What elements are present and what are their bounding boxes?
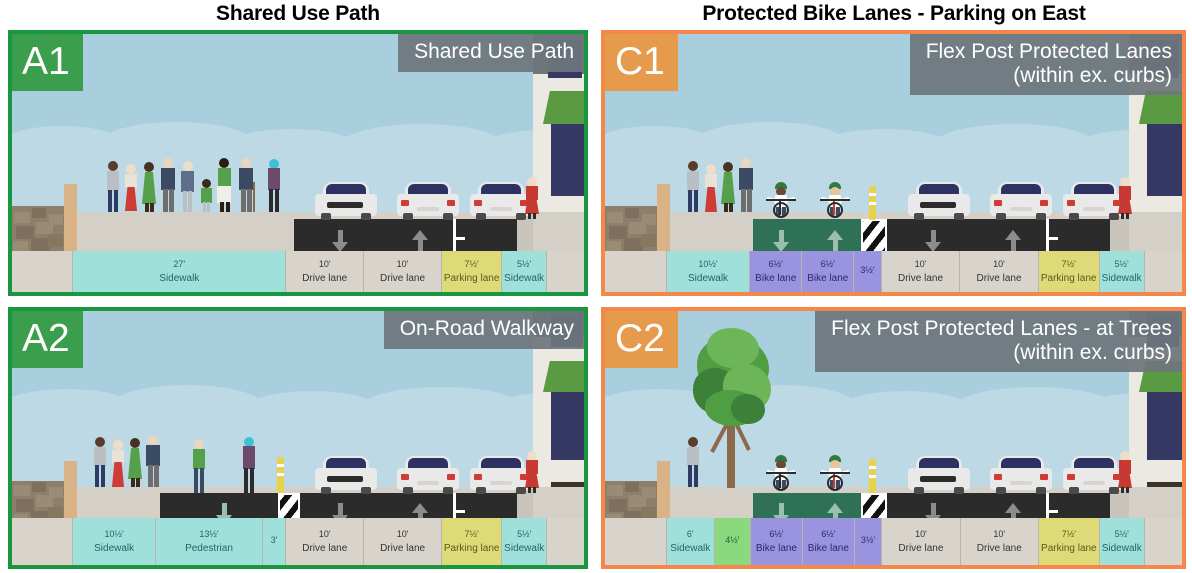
dim-seg — [12, 518, 73, 565]
cross-section-comparison-page: Shared Use Path — [0, 0, 1192, 573]
panel-code-a1: A1 — [12, 34, 83, 91]
up-arrow-icon — [1005, 230, 1021, 252]
dim-seg — [1145, 251, 1182, 292]
dim-seg: 7½'Parking lane — [442, 251, 502, 292]
dim-seg: 10'Drive lane — [286, 518, 364, 565]
dim-seg: 10'Drive lane — [286, 251, 364, 292]
panel-caption-c1: Flex Post Protected Lanes (within ex. cu… — [910, 34, 1182, 95]
pedestrian-icon — [217, 158, 232, 212]
pedestrian-icon — [201, 179, 212, 212]
dim-seg: 27'Sidewalk — [73, 251, 286, 292]
pedestrian-icon — [525, 177, 539, 219]
dimension-bar-c1: 10½'Sidewalk 6½'Bike lane 6½'Bike lane 3… — [605, 251, 1182, 292]
pedestrian-icon — [180, 161, 195, 212]
parking-stall-marking — [453, 510, 465, 513]
down-arrow-icon — [773, 230, 789, 252]
panel-a2[interactable]: A2 On-Road Walkway 10½'Sidewalk 13½'Pede… — [8, 307, 588, 569]
dim-seg: 6½'Bike lane — [802, 251, 854, 292]
dimension-bar-a2: 10½'Sidewalk 13½'Pedestrian 3' 10'Drive … — [12, 518, 584, 565]
bicyclist-icon — [817, 455, 851, 493]
car-front-icon — [1063, 182, 1125, 220]
column-title-left: Shared Use Path — [0, 0, 596, 28]
dim-seg: 10'Drive lane — [882, 251, 961, 292]
car-front-icon — [908, 456, 970, 494]
dim-seg — [547, 251, 584, 292]
pedestrian-icon — [267, 159, 281, 212]
dim-seg: 10'Drive lane — [364, 518, 442, 565]
dimension-bar-a1: 27'Sidewalk 10'Drive lane 10'Drive lane … — [12, 251, 584, 292]
dimension-bar-c2: 6'Sidewalk 4½' 6½'Bike lane 6½'Bike lane… — [605, 518, 1182, 565]
car-front-icon — [908, 182, 970, 220]
dim-seg: 5½'Sidewalk — [502, 518, 547, 565]
dim-seg: 10'Drive lane — [961, 518, 1039, 565]
pedestrian-icon — [105, 161, 121, 212]
column-title-right: Protected Bike Lanes - Parking on East — [596, 0, 1192, 28]
pedestrian-icon — [721, 162, 735, 212]
dim-seg: 5½'Sidewalk — [1100, 518, 1145, 565]
panel-code-c2: C2 — [605, 311, 678, 368]
bicyclist-icon — [763, 455, 797, 493]
dim-seg: 3½' — [855, 518, 882, 565]
parking-stall-marking — [1046, 510, 1058, 513]
bicyclist-icon — [817, 182, 851, 220]
dim-seg: 7½'Parking lane — [442, 518, 502, 565]
pedestrian-icon — [192, 439, 206, 493]
pedestrian-icon — [92, 437, 108, 487]
car-front-icon — [315, 456, 377, 494]
dim-seg: 10'Drive lane — [882, 518, 960, 565]
dim-seg: 10½'Sidewalk — [73, 518, 156, 565]
dim-seg: 10'Drive lane — [960, 251, 1039, 292]
dim-seg: 7½'Parking lane — [1039, 251, 1100, 292]
pedestrian-icon — [145, 435, 161, 487]
pedestrian-icon — [685, 437, 701, 487]
dim-seg — [605, 518, 667, 565]
dim-seg: 5½'Sidewalk — [502, 251, 547, 292]
pedestrian-icon — [704, 164, 718, 212]
pedestrian-icon — [1118, 451, 1132, 493]
pedestrian-icon — [238, 158, 254, 212]
panel-c1[interactable]: C1 Flex Post Protected Lanes (within ex.… — [601, 30, 1186, 296]
panel-caption-a1: Shared Use Path — [398, 34, 584, 72]
pedestrian-icon — [738, 158, 754, 212]
pedestrian-icon — [160, 158, 176, 212]
dim-seg: 5½'Sidewalk — [1100, 251, 1145, 292]
pedestrian-icon — [1118, 177, 1132, 219]
down-arrow-icon — [925, 230, 941, 252]
down-arrow-icon — [332, 230, 348, 252]
dim-seg: 6½'Bike lane — [751, 518, 803, 565]
dim-seg: 10½'Sidewalk — [667, 251, 750, 292]
car-front-icon — [990, 182, 1052, 220]
panel-code-c1: C1 — [605, 34, 678, 91]
panel-a1[interactable]: A1 Shared Use Path 27'Sidewalk 10'Drive … — [8, 30, 588, 296]
flex-post-icon — [869, 459, 876, 493]
car-front-icon — [315, 182, 377, 220]
car-front-icon — [397, 456, 459, 494]
dim-seg — [1145, 518, 1182, 565]
pedestrian-icon — [111, 440, 125, 487]
up-arrow-icon — [412, 230, 428, 252]
dim-seg: 6½'Bike lane — [750, 251, 802, 292]
pedestrian-icon — [525, 451, 539, 493]
retaining-wall — [64, 184, 77, 259]
panel-code-a2: A2 — [12, 311, 83, 368]
dim-seg: 6½'Bike lane — [803, 518, 855, 565]
car-front-icon — [397, 182, 459, 220]
pedestrian-icon — [128, 438, 142, 487]
flex-post-icon — [277, 457, 284, 493]
dim-seg: 4½' — [715, 518, 751, 565]
panel-caption-a2: On-Road Walkway — [384, 311, 584, 349]
pedestrian-icon — [242, 437, 256, 493]
pedestrian-icon — [685, 161, 701, 212]
panel-caption-c2: Flex Post Protected Lanes - at Trees (wi… — [815, 311, 1182, 372]
dim-seg — [12, 251, 73, 292]
panel-c2[interactable]: C2 Flex Post Protected Lanes - at Trees … — [601, 307, 1186, 569]
up-arrow-icon — [827, 230, 843, 252]
bicyclist-icon — [763, 182, 797, 220]
dim-seg: 3½' — [854, 251, 881, 292]
car-front-icon — [1063, 456, 1125, 494]
column-shared-use-path: Shared Use Path — [0, 0, 596, 573]
dim-seg: 6'Sidewalk — [667, 518, 715, 565]
dim-seg: 7½'Parking lane — [1039, 518, 1100, 565]
car-front-icon — [470, 456, 532, 494]
car-front-icon — [990, 456, 1052, 494]
retaining-wall — [657, 184, 670, 259]
dim-seg — [605, 251, 667, 292]
dim-seg: 13½'Pedestrian — [156, 518, 263, 565]
dim-seg: 10'Drive lane — [364, 251, 442, 292]
dim-seg — [547, 518, 584, 565]
flex-post-icon — [869, 186, 876, 220]
parking-stall-marking — [1046, 237, 1058, 240]
parking-stall-marking — [453, 237, 465, 240]
dim-seg: 3' — [263, 518, 286, 565]
pedestrian-icon — [142, 162, 156, 212]
pedestrian-icon — [124, 164, 138, 212]
column-protected-bike-lanes: Protected Bike Lanes - Parking on East — [596, 0, 1192, 573]
car-front-icon — [470, 182, 532, 220]
